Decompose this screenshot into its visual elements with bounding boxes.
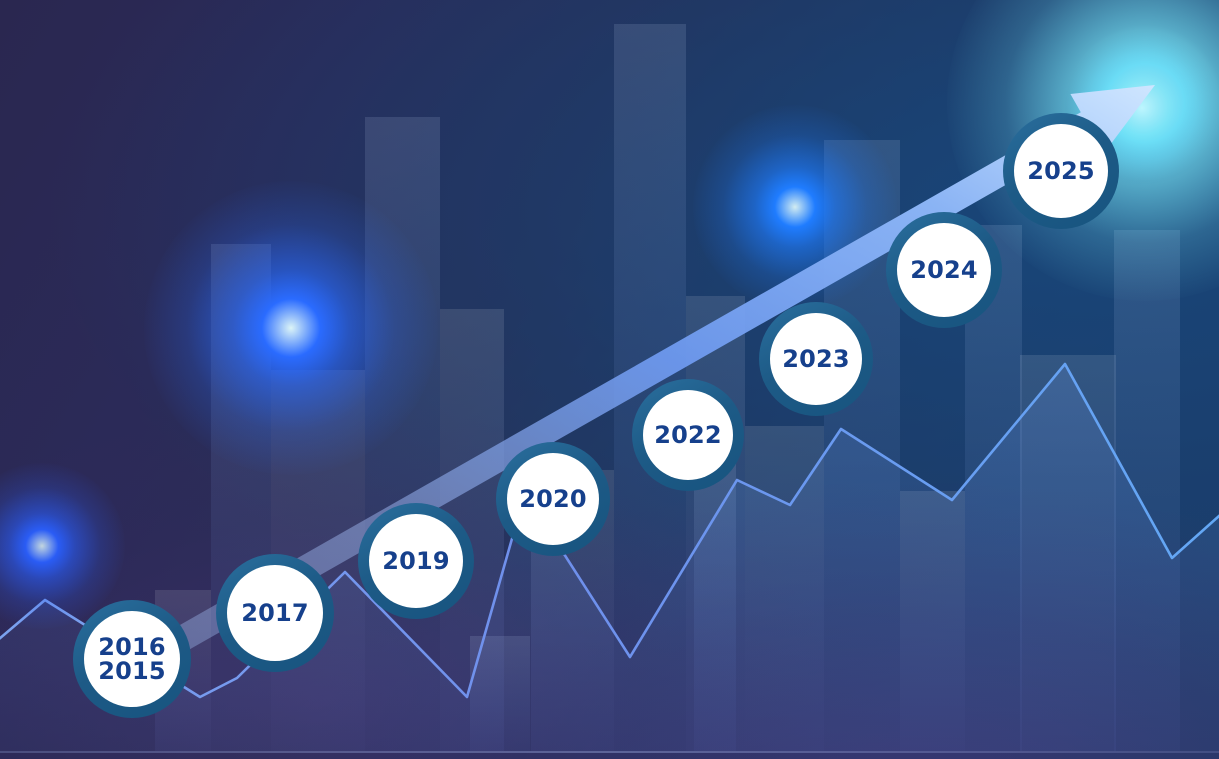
- milestone-m-2023[interactable]: 2023: [759, 302, 873, 416]
- milestone-disc: 2017: [227, 565, 323, 661]
- milestone-disc: 20162015: [84, 611, 180, 707]
- milestone-m-2022[interactable]: 2022: [632, 379, 744, 491]
- milestone-year-label: 2022: [654, 423, 722, 447]
- milestone-m-2024[interactable]: 2024: [886, 212, 1002, 328]
- baseline-rule: [0, 751, 1219, 753]
- milestone-disc: 2023: [770, 313, 862, 405]
- milestone-year-label: 2017: [241, 601, 309, 625]
- milestone-year-label: 2016: [98, 635, 166, 659]
- infographic-canvas: 201620152017201920202022202320242025: [0, 0, 1219, 759]
- milestone-year-label: 2020: [519, 487, 587, 511]
- milestone-m-2020[interactable]: 2020: [496, 442, 610, 556]
- milestone-year-label: 2015: [98, 659, 166, 683]
- milestone-year-label: 2023: [782, 347, 850, 371]
- milestone-disc: 2019: [369, 514, 463, 608]
- milestone-year-label: 2025: [1027, 159, 1095, 183]
- milestone-year-label: 2024: [910, 258, 978, 282]
- milestone-disc: 2024: [897, 223, 991, 317]
- milestone-m-2017[interactable]: 2017: [216, 554, 334, 672]
- milestone-m-2019[interactable]: 2019: [358, 503, 474, 619]
- milestone-disc: 2025: [1014, 124, 1108, 218]
- milestone-disc: 2020: [507, 453, 599, 545]
- milestone-m-2025[interactable]: 2025: [1003, 113, 1119, 229]
- milestone-disc: 2022: [643, 390, 733, 480]
- milestone-m-2015-2016[interactable]: 20162015: [73, 600, 191, 718]
- milestone-year-label: 2019: [382, 549, 450, 573]
